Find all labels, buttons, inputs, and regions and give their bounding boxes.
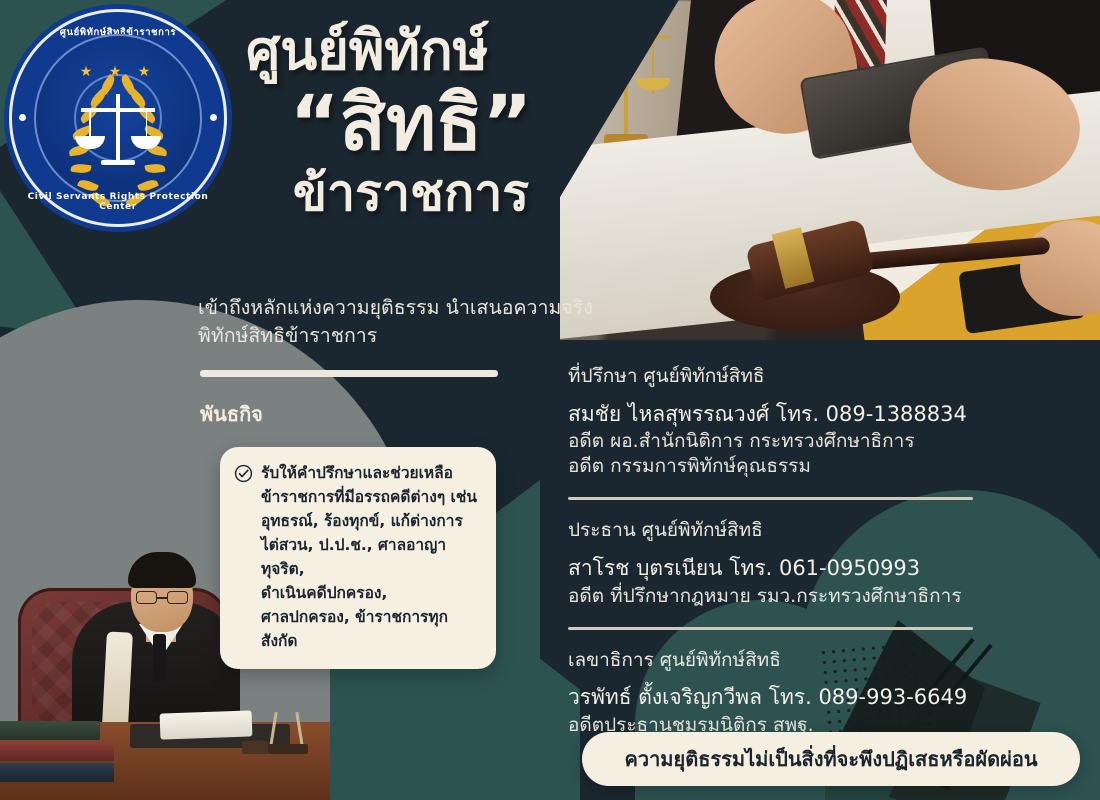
section-divider-left bbox=[200, 370, 498, 377]
contact-name-and-phone[interactable]: สมชัย ไหลสุพรรณวงศ์ โทร. 089-1388834 bbox=[568, 400, 988, 430]
contact-block-secretary: เลขาธิการ ศูนย์พิทักษ์สิทธิ วรพัทธ์ ตั้ง… bbox=[568, 646, 988, 738]
mission-line: อุทธรณ์, ร้องทุกข์, แก้ต่างการ bbox=[261, 509, 480, 533]
mission-line: ไต่สวน, ป.ป.ช., ศาลอาญาทุจริต, bbox=[261, 533, 480, 581]
contact-divider bbox=[568, 497, 973, 500]
mission-line: ศาลปกครอง, ข้าราชการทุกสังกัด bbox=[261, 605, 480, 653]
contact-role: ที่ปรึกษา ศูนย์พิทักษ์สิทธิ bbox=[568, 362, 988, 391]
mission-line: รับให้คำปรึกษาและช่วยเหลือ bbox=[261, 461, 480, 485]
subtitle: เข้าถึงหลักแห่งความยุติธรรม นำเสนอความจร… bbox=[198, 294, 618, 351]
page-title: ศูนย์พิทักษ์ “สิทธิ” ข้าราชการ bbox=[246, 22, 576, 220]
open-book-prop bbox=[160, 710, 253, 739]
mission-text: รับให้คำปรึกษาและช่วยเหลือ ข้าราชการที่ม… bbox=[261, 461, 480, 653]
logo-english-text: Civil Servants Rights Protection Center bbox=[12, 192, 224, 212]
mission-heading: พันธกิจ bbox=[200, 398, 263, 430]
contact-subtitle: อดีต กรรมการพิทักษ์คุณธรรม bbox=[568, 454, 988, 479]
contact-subtitle: อดีต ผอ.สำนักนิติการ กระทรวงศึกษาธิการ bbox=[568, 429, 988, 454]
poster-canvas: ศูนย์พิทักษ์สิทธิข้าราชการ ★ ★ ★ bbox=[0, 0, 1100, 800]
contact-block-president: ประธาน ศูนย์พิทักษ์สิทธิ สาโรช บุตรเนียน… bbox=[568, 516, 988, 608]
mission-line: ดำเนินคดีปกครอง, bbox=[261, 581, 480, 605]
subtitle-line-1: เข้าถึงหลักแห่งความยุติธรรม นำเสนอความจร… bbox=[198, 294, 618, 322]
contacts-list: ที่ปรึกษา ศูนย์พิทักษ์สิทธิ สมชัย ไหลสุพ… bbox=[568, 362, 988, 742]
contact-role: เลขาธิการ ศูนย์พิทักษ์สิทธิ bbox=[568, 646, 988, 675]
mission-line: ข้าราชการที่มีอรรถคดีต่างๆ เช่น bbox=[261, 485, 480, 509]
title-line-3: ข้าราชการ bbox=[246, 166, 576, 220]
footer-slogan-banner: ความยุติธรรมไม่เป็นสิ่งที่จะพึงปฏิเสธหรื… bbox=[582, 732, 1080, 786]
title-line-2: “สิทธิ” bbox=[246, 82, 576, 164]
balance-scales-icon bbox=[75, 94, 161, 180]
law-books-stack-prop bbox=[0, 720, 114, 782]
contact-divider bbox=[568, 627, 973, 630]
contact-name-and-phone[interactable]: วรพัทธ์ ตั้งเจริญกวีพล โทร. 089-993-6649 bbox=[568, 683, 988, 713]
mission-card: รับให้คำปรึกษาและช่วยเหลือ ข้าราชการที่ม… bbox=[220, 447, 496, 669]
subtitle-line-2: พิทักษ์สิทธิข้าราชการ bbox=[198, 322, 618, 350]
title-line-1: ศูนย์พิทักษ์ bbox=[246, 22, 576, 80]
eyeglasses-icon bbox=[136, 591, 188, 604]
pen-stand-prop bbox=[268, 720, 308, 754]
check-circle-icon bbox=[234, 464, 253, 483]
organization-logo: ศูนย์พิทักษ์สิทธิข้าราชการ ★ ★ ★ bbox=[12, 12, 224, 224]
footer-slogan-text: ความยุติธรรมไม่เป็นสิ่งที่จะพึงปฏิเสธหรื… bbox=[624, 743, 1037, 775]
contact-name-and-phone[interactable]: สาโรช บุตรเนียน โทร. 061-0950993 bbox=[568, 554, 988, 584]
contact-subtitle: อดีต ที่ปรึกษากฎหมาย รมว.กระทรวงศึกษาธิก… bbox=[568, 584, 988, 609]
contact-role: ประธาน ศูนย์พิทักษ์สิทธิ bbox=[568, 516, 988, 545]
contact-block-advisor: ที่ปรึกษา ศูนย์พิทักษ์สิทธิ สมชัย ไหลสุพ… bbox=[568, 362, 988, 479]
